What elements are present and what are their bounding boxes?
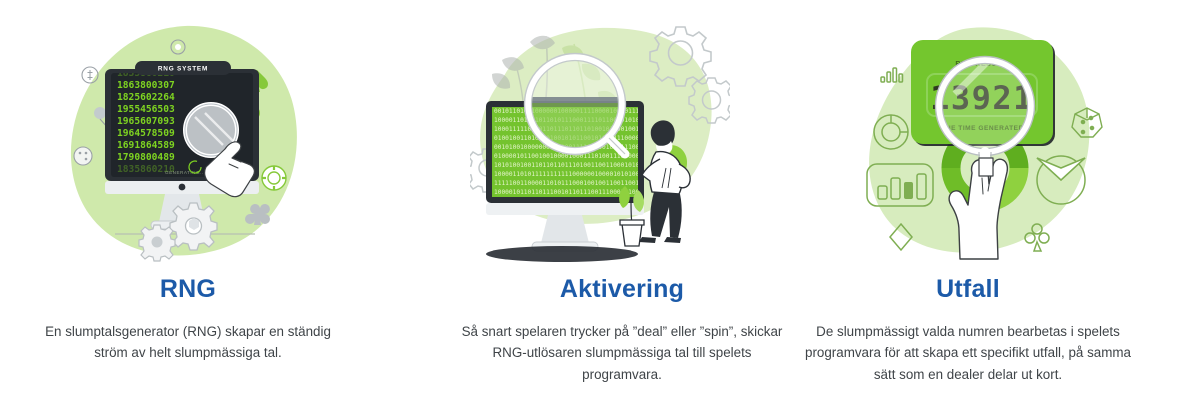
svg-text:1964578509: 1964578509 <box>117 128 175 139</box>
step-description-rng: En slumptalsgenerator (RNG) skapar en st… <box>28 321 348 364</box>
illustration-utfall: RNG RESULT: 13921 ONE TIME GENERATED <box>851 18 1111 268</box>
bar-chart-small-icon <box>881 68 903 82</box>
step-title-aktivering: Aktivering <box>560 276 684 304</box>
magnifier-icon <box>525 54 626 155</box>
svg-text:1790800489: 1790800489 <box>117 152 175 163</box>
screen-label-text: RNG SYSTEM <box>158 66 208 73</box>
screen-label-pill: RNG SYSTEM <box>135 61 231 75</box>
svg-text:1965607093: 1965607093 <box>117 116 175 127</box>
step-card-utfall: RNG RESULT: 13921 ONE TIME GENERATED <box>800 0 1200 400</box>
illustration-rng: 1835860210 1863800307 1825602264 1955456… <box>59 18 319 268</box>
random-number-stream: 1835860210 1863800307 1825602264 1955456… <box>117 68 175 175</box>
step-card-rng: 1835860210 1863800307 1825602264 1955456… <box>0 0 400 400</box>
step-description-utfall: De slumpmässigt valda numren bearbetas i… <box>803 321 1133 386</box>
gear-small-icon <box>139 225 175 261</box>
gear-icon <box>170 203 217 250</box>
step-title-rng: RNG <box>160 276 216 304</box>
svg-text:1691864589: 1691864589 <box>117 140 175 151</box>
step-title-utfall: Utfall <box>936 276 1000 304</box>
steps-row: 1835860210 1863800307 1825602264 1955456… <box>0 0 1200 400</box>
dice-icon <box>74 147 92 165</box>
svg-text:1955456503: 1955456503 <box>117 104 175 115</box>
step-card-aktivering: 0010110100100000010000011110000100101111… <box>400 0 800 400</box>
svg-text:1863800307: 1863800307 <box>117 80 175 91</box>
illustration-aktivering: 0010110100100000010000011110000100101111… <box>470 18 730 268</box>
step-description-aktivering: Så snart spelaren trycker på ”deal” elle… <box>457 321 787 386</box>
svg-text:1825602264: 1825602264 <box>117 92 175 103</box>
